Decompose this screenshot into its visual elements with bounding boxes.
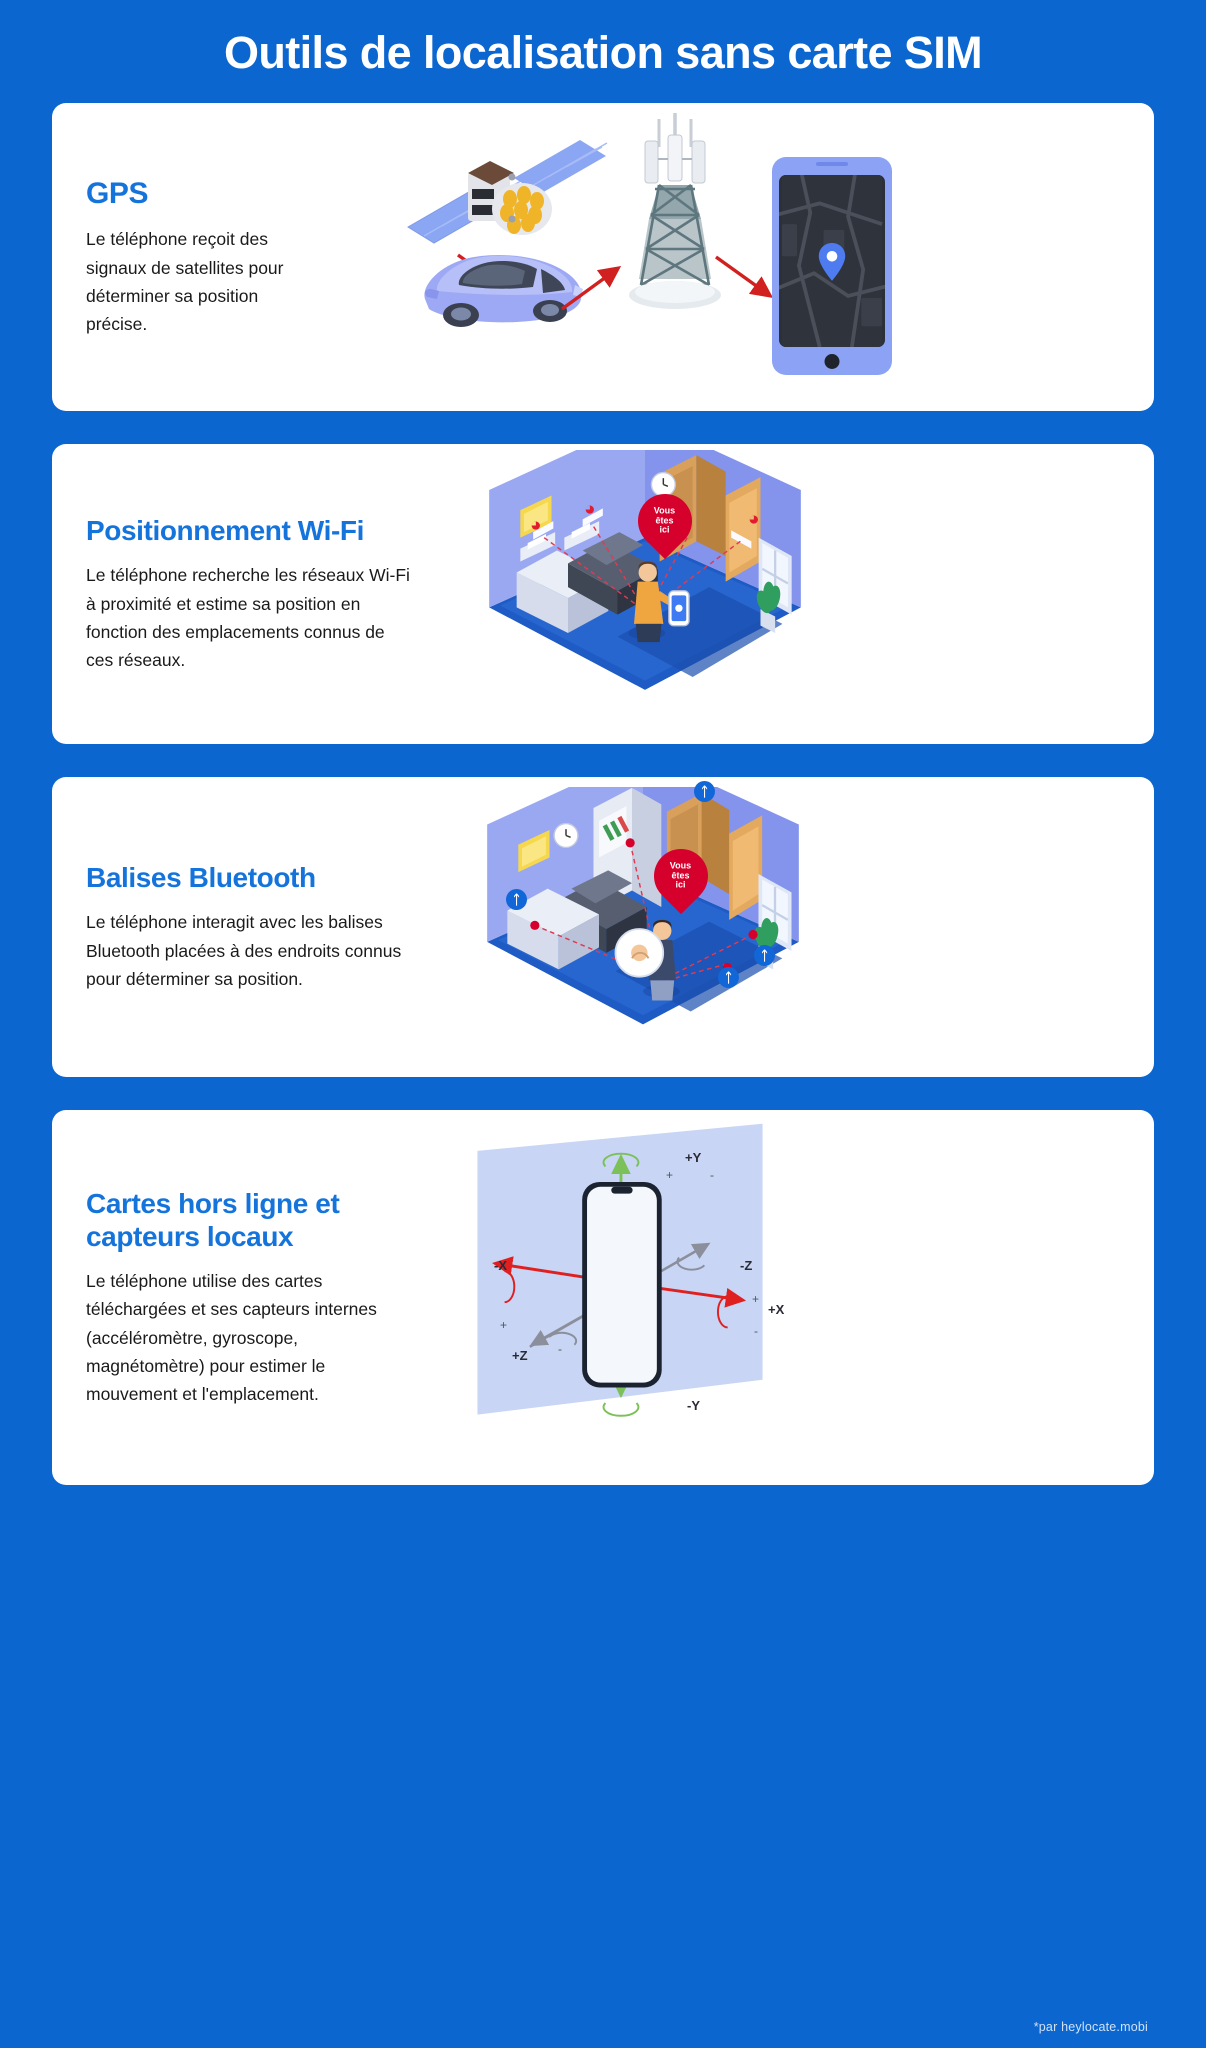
card-gps-text: GPS Le téléphone reçoit des signaux de s… <box>52 176 307 339</box>
card-gps: GPS Le téléphone reçoit des signaux de s… <box>52 103 1154 411</box>
footer-credit: *par heylocate.mobi <box>1034 2020 1148 2034</box>
cards-container: GPS Le téléphone reçoit des signaux de s… <box>0 103 1206 1485</box>
rotation-sign: + <box>666 1168 673 1182</box>
axis-label-plus-z: +Z <box>512 1348 528 1363</box>
isometric-room <box>478 787 808 1027</box>
card-wifi: Positionnement Wi-Fi Le téléphone recher… <box>52 444 1154 744</box>
axis-label-minus-y: -Y <box>687 1398 700 1413</box>
card-sensors-body: Le téléphone utilise des cartes téléchar… <box>86 1267 396 1409</box>
rotation-sign: - <box>754 1324 758 1338</box>
phone-sensor-axes <box>460 1116 780 1436</box>
card-bluetooth-body: Le téléphone interagit avec les balises … <box>86 908 416 993</box>
pin-label: Vous êtes ici <box>670 862 691 891</box>
isometric-room <box>480 450 810 695</box>
card-sensors-title: Cartes hors ligne et capteurs locaux <box>86 1187 412 1253</box>
card-gps-illustration <box>307 103 1154 411</box>
page-title: Outils de localisation sans carte SIM <box>0 0 1206 78</box>
card-sensors-illustration: +Y -Y +X -X +Z -Z + - + - + - <box>422 1110 1154 1485</box>
wifi-signal-icon: ◕ <box>584 500 595 519</box>
card-sensors-text: Cartes hors ligne et capteurs locaux Le … <box>52 1187 422 1409</box>
smartphone-icon <box>772 157 892 375</box>
rotation-sign: - <box>558 1342 562 1356</box>
wifi-signal-icon: ◕ <box>530 516 541 535</box>
rotation-sign: - <box>710 1168 714 1182</box>
card-gps-body: Le téléphone reçoit des signaux de satel… <box>86 225 286 338</box>
card-sensors: Cartes hors ligne et capteurs locaux Le … <box>52 1110 1154 1485</box>
card-bluetooth-illustration: ᛏ ᛏ ᛏ ᛏ Vous êtes ici <box>442 777 1154 1077</box>
axis-label-minus-z: -Z <box>740 1258 752 1273</box>
card-gps-title: GPS <box>86 176 297 211</box>
card-wifi-text: Positionnement Wi-Fi Le téléphone recher… <box>52 514 442 674</box>
pin-label: Vous êtes ici <box>654 507 675 536</box>
axis-label-plus-y: +Y <box>685 1150 701 1165</box>
card-bluetooth: Balises Bluetooth Le téléphone interagit… <box>52 777 1154 1077</box>
card-bluetooth-title: Balises Bluetooth <box>86 861 432 894</box>
axis-label-plus-x: +X <box>768 1302 784 1317</box>
axis-label-minus-x: -X <box>494 1258 507 1273</box>
card-wifi-illustration: ◕ ◕ ◕ Vous êtes ici <box>442 444 1154 744</box>
wifi-signal-icon: ◕ <box>748 510 759 529</box>
rotation-sign: + <box>500 1318 507 1332</box>
rotation-sign: + <box>752 1292 759 1306</box>
cell-tower-icon <box>615 109 735 349</box>
card-wifi-body: Le téléphone recherche les réseaux Wi-Fi… <box>86 561 416 674</box>
card-wifi-title: Positionnement Wi-Fi <box>86 514 432 547</box>
card-bluetooth-text: Balises Bluetooth Le téléphone interagit… <box>52 861 442 993</box>
